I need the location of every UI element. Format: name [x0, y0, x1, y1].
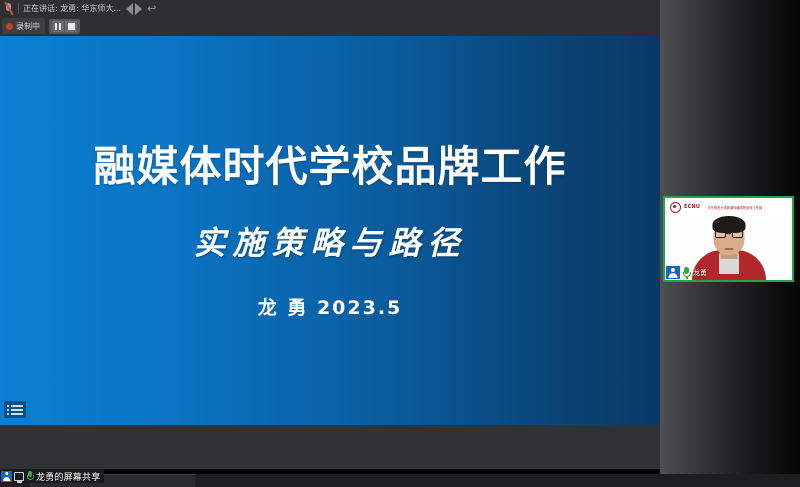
screen-share-label: 龙勇的屏幕共享 — [36, 470, 100, 483]
participant-video-tile[interactable]: ECNU 华东师范大学新闻传播学院宣传工作部 龙勇 — [663, 196, 794, 282]
pause-icon[interactable] — [52, 21, 64, 32]
recording-button-group — [49, 19, 80, 34]
participant-name-bar: 龙勇 — [665, 265, 710, 280]
participant-name-label: 龙勇 — [693, 268, 707, 278]
mic-muted-icon[interactable] — [3, 2, 14, 15]
slide-title: 融媒体时代学校品牌工作 — [0, 146, 660, 188]
taskbar — [0, 474, 800, 487]
toolbar-divider — [18, 3, 19, 14]
mic-on-icon — [26, 471, 34, 482]
ecnu-crest-icon — [670, 202, 681, 213]
stop-icon[interactable] — [65, 21, 77, 32]
meeting-toolbar[interactable]: 正在讲话: 龙勇: 华东师大... ↩ 录制中 — [0, 0, 168, 36]
mic-on-icon[interactable] — [682, 267, 691, 279]
slideshow-menu-icon[interactable] — [4, 401, 26, 418]
ecnu-logo-text: ECNU — [684, 204, 700, 210]
triangle-left-icon[interactable] — [126, 3, 133, 15]
ecnu-banner: ECNU 华东师范大学新闻传播学院宣传工作部 — [665, 198, 792, 216]
screen-share-icon — [14, 472, 24, 481]
ecnu-banner-subtitle: 华东师范大学新闻传播学院宣传工作部 — [708, 205, 763, 210]
undo-arrow-icon[interactable]: ↩ — [147, 3, 156, 14]
recording-controls: 录制中 — [2, 18, 80, 34]
screen-share-view: 正在讲话: 龙勇: 华东师大... ↩ 录制中 融媒体时代学校品牌工作 实施策略… — [0, 0, 800, 487]
screen-share-status-bar: 龙勇的屏幕共享 — [0, 469, 104, 483]
recording-label: 录制中 — [16, 21, 40, 32]
bottom-backdrop — [0, 425, 660, 469]
slide-byline: 龙 勇 2023.5 — [0, 293, 660, 320]
shared-slide: 融媒体时代学校品牌工作 实施策略与路径 龙 勇 2023.5 — [0, 36, 660, 425]
slide-subtitle: 实施策略与路径 — [0, 218, 660, 264]
speaking-status-label: 正在讲话: 龙勇: 华东师大... — [23, 3, 121, 14]
toolbar-top-row: 正在讲话: 龙勇: 华东师大... ↩ — [0, 0, 156, 17]
recording-status-badge: 录制中 — [2, 18, 45, 34]
record-dot-icon — [6, 23, 13, 30]
toolbar-nav-icons: ↩ — [126, 3, 156, 15]
participant-avatar-icon — [1, 471, 12, 482]
participant-avatar-icon — [666, 266, 680, 279]
triangle-right-icon[interactable] — [135, 3, 142, 15]
